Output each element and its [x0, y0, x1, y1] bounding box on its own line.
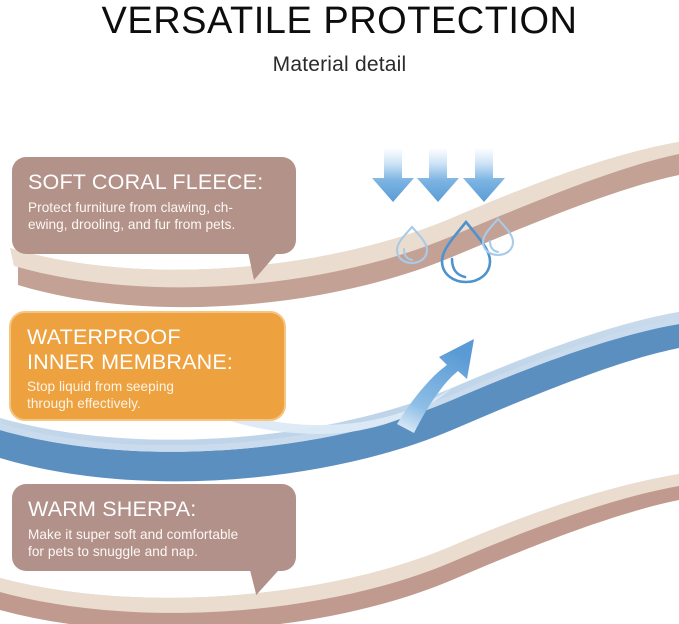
down-arrow-icon — [372, 148, 414, 202]
callout-card-soft-coral-fleece[interactable]: SOFT CORAL FLEECE: Protect furniture fro… — [12, 157, 296, 254]
infographic-canvas: VERSATILE PROTECTION Material detail — [0, 0, 679, 624]
water-drop-icon — [483, 219, 513, 255]
water-drop-icon — [397, 227, 427, 263]
callout-tail-fleece — [240, 252, 278, 280]
callout-title: WATERPROOF INNER MEMBRANE: — [27, 325, 268, 374]
callout-body: Protect furniture from clawing, ch- ewin… — [28, 199, 280, 233]
down-arrow-icon — [463, 148, 505, 202]
callout-card-waterproof-inner-membrane[interactable]: WATERPROOF INNER MEMBRANE: Stop liquid f… — [9, 311, 286, 421]
header: VERSATILE PROTECTION Material detail — [0, 0, 679, 77]
callout-title: SOFT CORAL FLEECE: — [28, 170, 280, 195]
callout-body: Make it super soft and comfortable for p… — [28, 526, 280, 560]
water-drop-icon-group — [397, 219, 513, 282]
page-subtitle: Material detail — [0, 42, 679, 77]
up-curved-arrow-icon — [397, 339, 474, 433]
callout-card-warm-sherpa[interactable]: WARM SHERPA: Make it super soft and comf… — [12, 484, 296, 571]
callout-title: WARM SHERPA: — [28, 497, 280, 522]
callout-body: Stop liquid from seeping through effecti… — [27, 378, 268, 412]
page-title: VERSATILE PROTECTION — [0, 0, 679, 42]
down-arrow-icon-group — [372, 148, 505, 202]
callout-tail-sherpa — [242, 569, 279, 595]
water-drop-icon — [442, 222, 490, 282]
down-arrow-icon — [417, 148, 459, 202]
